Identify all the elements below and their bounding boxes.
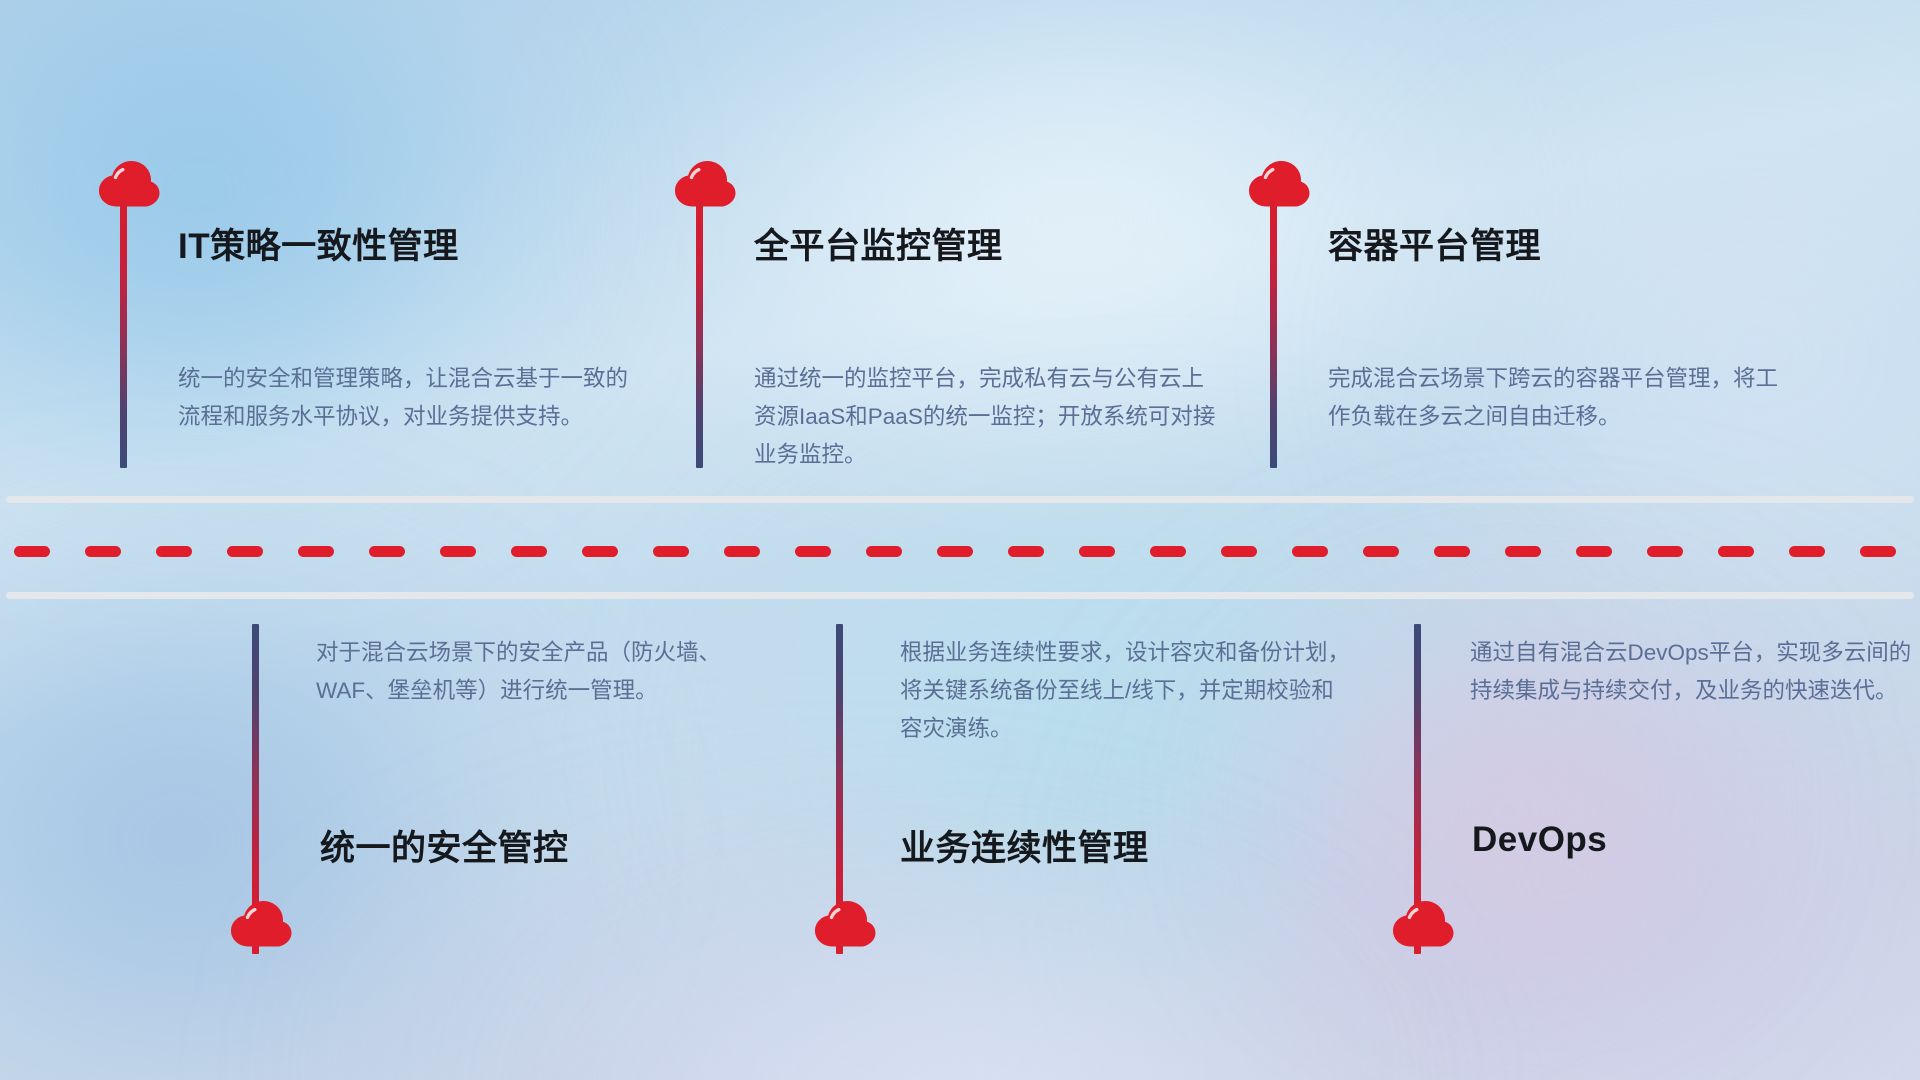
card-heading: 全平台监控管理 <box>754 218 1003 269</box>
cloud-icon <box>1248 160 1310 207</box>
card-heading: 容器平台管理 <box>1328 218 1541 269</box>
card-body: 通过自有混合云DevOps平台，实现多云间的持续集成与持续交付，及业务的快速迭代… <box>1470 634 1920 710</box>
divider-dash <box>511 546 547 557</box>
divider-dash <box>1647 546 1683 557</box>
divider-dash <box>85 546 121 557</box>
divider-dash <box>866 546 902 557</box>
divider-dashed-line <box>0 546 1920 558</box>
cloud-icon <box>98 160 160 207</box>
cloud-icon <box>674 160 736 207</box>
infographic-canvas: IT策略一致性管理 统一的安全和管理策略，让混合云基于一致的流程和服务水平协议，… <box>0 0 1920 1080</box>
divider-dash <box>1434 546 1470 557</box>
stem-line <box>696 200 703 468</box>
divider-dash <box>156 546 192 557</box>
cloud-icon <box>230 900 292 947</box>
card-heading: IT策略一致性管理 <box>178 218 459 269</box>
divider-dash <box>1079 546 1115 557</box>
card-body: 统一的安全和管理策略，让混合云基于一致的流程和服务水平协议，对业务提供支持。 <box>178 360 648 436</box>
divider-line-bottom <box>6 592 1914 599</box>
card-body: 根据业务连续性要求，设计容灾和备份计划，将关键系统备份至线上/线下，并定期校验和… <box>900 634 1350 748</box>
divider-dash <box>1150 546 1186 557</box>
divider-dash <box>1789 546 1825 557</box>
card-body: 完成混合云场景下跨云的容器平台管理，将工作负载在多云之间自由迁移。 <box>1328 360 1798 436</box>
divider-dash <box>14 546 50 557</box>
divider-dash <box>1363 546 1399 557</box>
divider-dash <box>582 546 618 557</box>
divider-dash <box>1860 546 1896 557</box>
divider-dash <box>724 546 760 557</box>
cloud-icon <box>814 900 876 947</box>
divider-dash <box>1576 546 1612 557</box>
card-heading: DevOps <box>1472 820 1607 860</box>
divider-dash <box>1292 546 1328 557</box>
card-body: 对于混合云场景下的安全产品（防火墙、WAF、堡垒机等）进行统一管理。 <box>316 634 766 710</box>
card-body: 通过统一的监控平台，完成私有云与公有云上资源IaaS和PaaS的统一监控；开放系… <box>754 360 1224 474</box>
divider-line-top <box>6 496 1914 503</box>
divider-dash <box>1505 546 1541 557</box>
divider-dash <box>653 546 689 557</box>
cloud-icon <box>1392 900 1454 947</box>
divider-dash <box>795 546 831 557</box>
stem-line <box>120 200 127 468</box>
divider-dash <box>1008 546 1044 557</box>
stem-line <box>1270 200 1277 468</box>
divider-dash <box>227 546 263 557</box>
divider-dash <box>1221 546 1257 557</box>
divider-dash <box>937 546 973 557</box>
card-heading: 业务连续性管理 <box>900 820 1149 871</box>
divider-dash <box>440 546 476 557</box>
card-heading: 统一的安全管控 <box>320 820 569 871</box>
divider-dash <box>369 546 405 557</box>
divider-dash <box>1718 546 1754 557</box>
divider-dash <box>298 546 334 557</box>
